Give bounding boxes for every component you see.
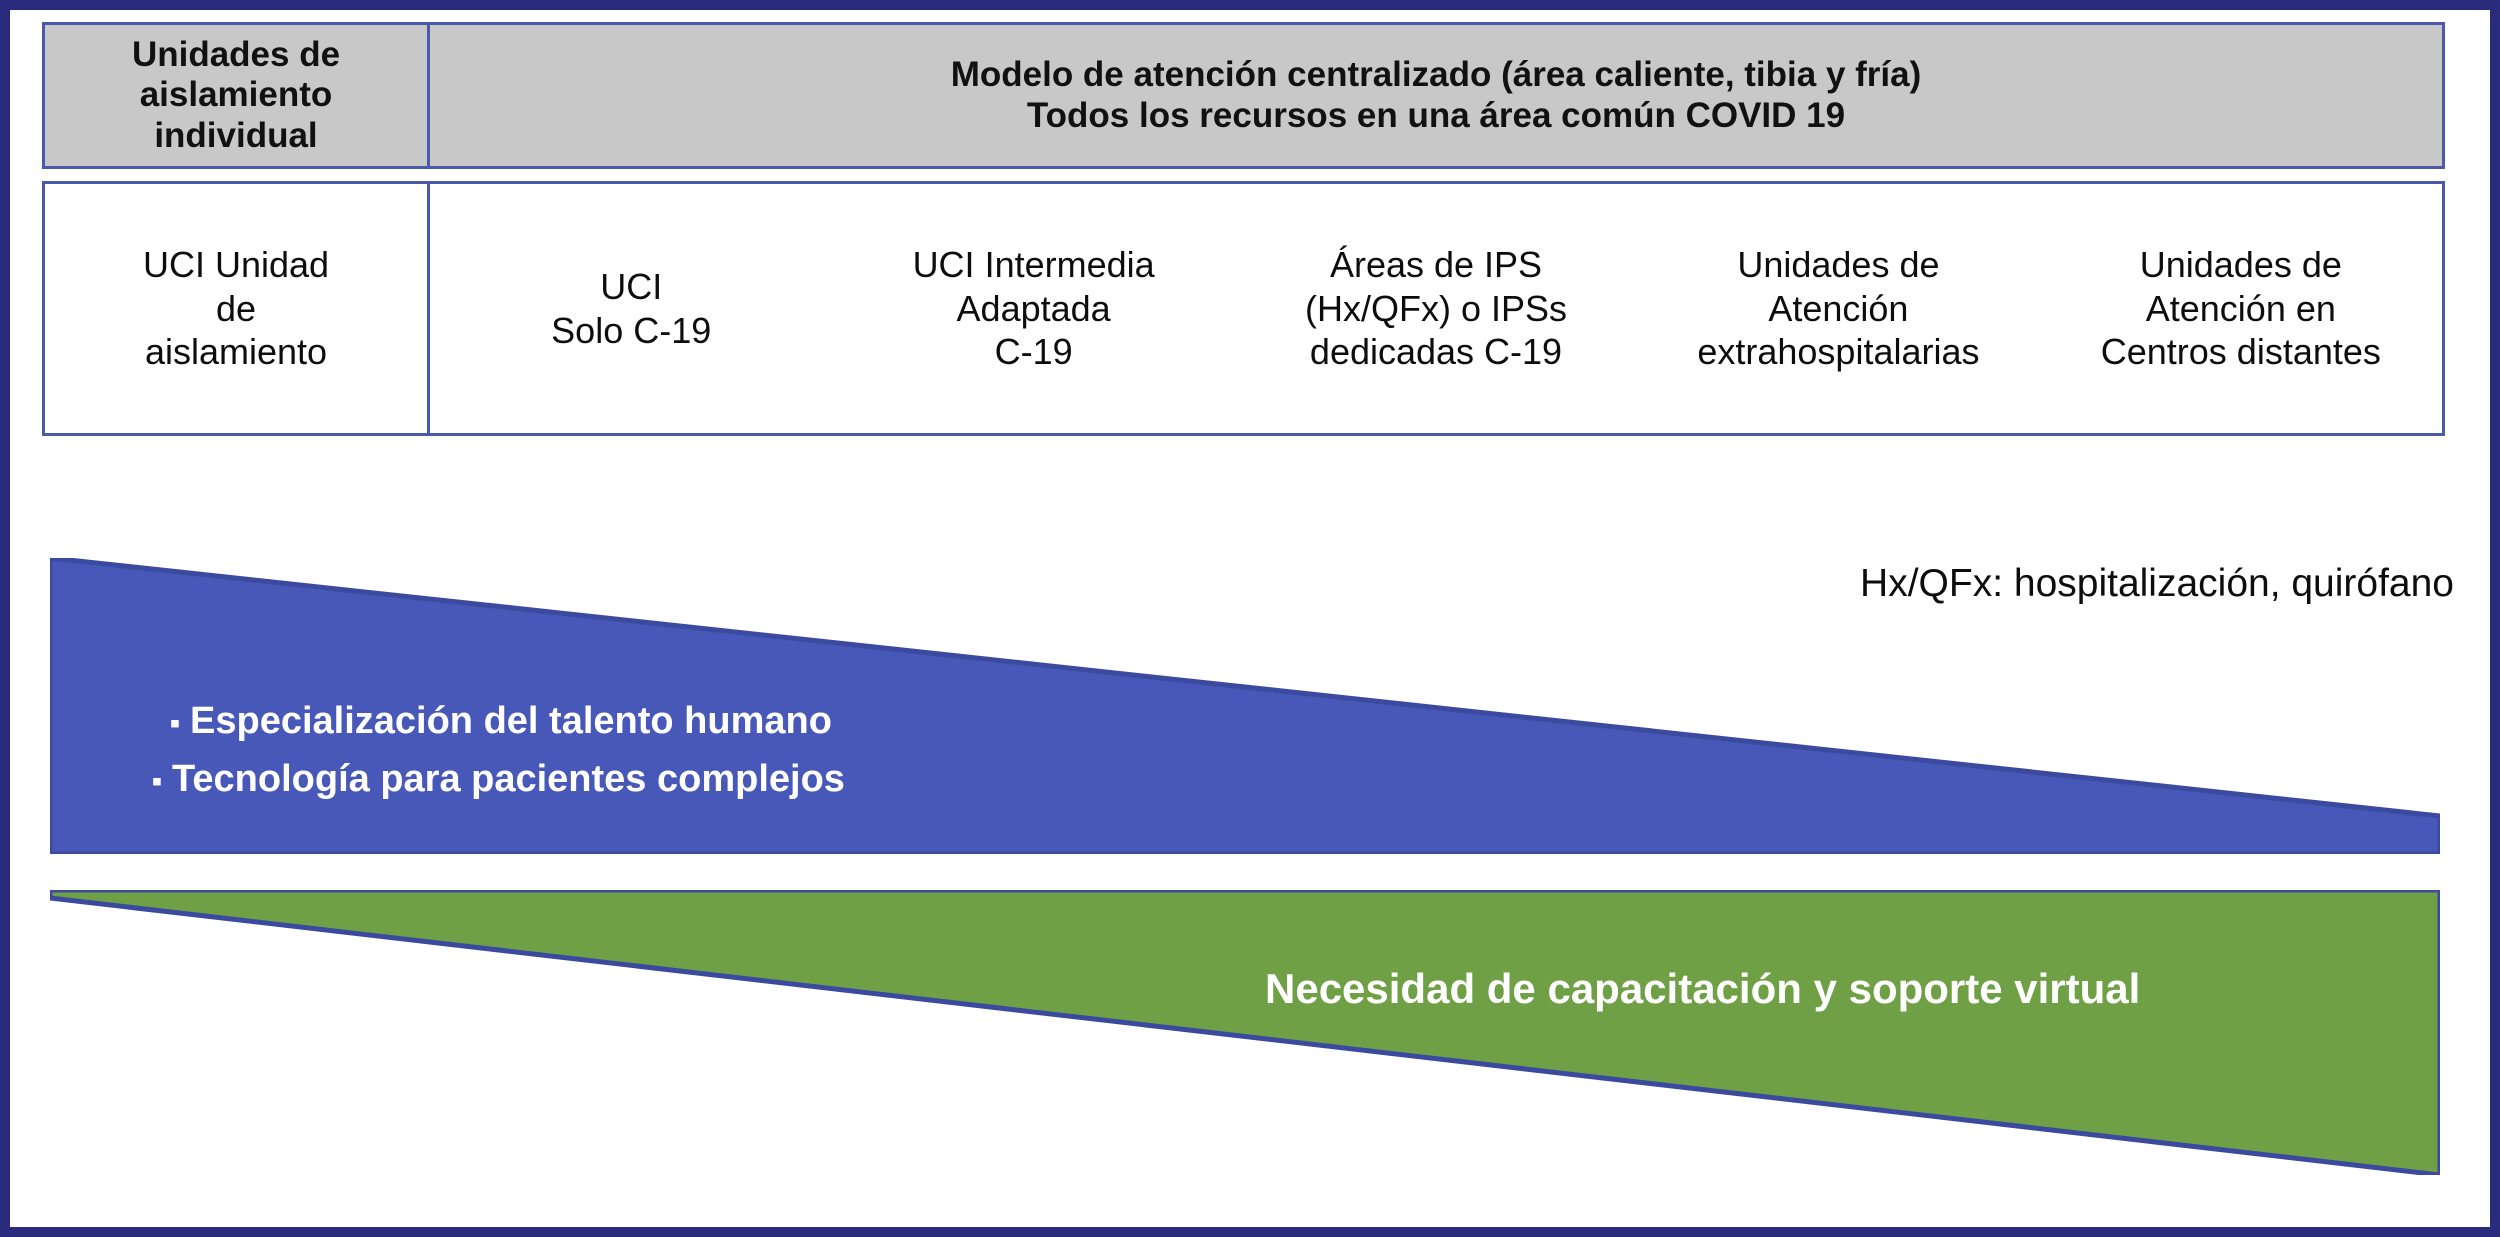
header-right-line-2: Todos los recursos en una área común COV… (951, 96, 1922, 137)
column-uci-intermedia-adaptada: UCI Intermedia Adaptada C-19 (832, 184, 1234, 433)
column-3-line-1: Áreas de IPS (1305, 243, 1567, 287)
blue-wedge-bullet-list: ▪ Especialización del talento humano ▪ T… (160, 693, 845, 809)
blue-bullet-item-1: ▪ Especialización del talento humano (160, 693, 845, 751)
header-cell-centralized-model: Modelo de atención centralizado (área ca… (430, 25, 2442, 166)
care-model-table: Unidades de aislamiento individual Model… (42, 22, 2445, 436)
header-left-line-1: Unidades de (132, 35, 340, 76)
table-header-row: Unidades de aislamiento individual Model… (42, 22, 2445, 169)
green-wedge-label: Necesidad de capacitación y soporte virt… (1265, 965, 2140, 1013)
header-left-line-3: individual (132, 116, 340, 157)
header-left-line-2: aislamiento (132, 75, 340, 116)
column-1-line-1: UCI (551, 265, 711, 309)
column-0-line-3: aislamiento (143, 330, 329, 374)
blue-bullet-item-2: ▪ Tecnología para pacientes complejos (160, 751, 845, 809)
green-increasing-wedge (50, 890, 2440, 1175)
column-5-line-2: Atención en (2101, 287, 2381, 331)
blue-bullet-label-1: Especialización del talento humano (190, 693, 832, 751)
column-5-line-1: Unidades de (2101, 243, 2381, 287)
header-cell-individual-isolation: Unidades de aislamiento individual (45, 25, 430, 166)
column-5-line-3: Centros distantes (2101, 330, 2381, 374)
column-2-line-2: Adaptada (913, 287, 1155, 331)
column-3-line-2: (Hx/QFx) o IPSs (1305, 287, 1567, 331)
bullet-square-icon: ▪ (142, 759, 172, 805)
column-2-line-1: UCI Intermedia (913, 243, 1155, 287)
bullet-square-icon: ▪ (160, 701, 190, 747)
column-1-line-2: Solo C-19 (551, 309, 711, 353)
column-4-line-1: Unidades de (1697, 243, 1979, 287)
table-columns-row: UCI Unidad de aislamiento UCI Solo C-19 … (42, 181, 2445, 436)
column-4-line-3: extrahospitalarias (1697, 330, 1979, 374)
slide-canvas: Unidades de aislamiento individual Model… (0, 0, 2500, 1237)
column-areas-de-ips: Áreas de IPS (Hx/QFx) o IPSs dedicadas C… (1235, 184, 1637, 433)
column-0-line-1: UCI Unidad (143, 243, 329, 287)
column-0-line-2: de (143, 287, 329, 331)
column-uci-unidad-de-aislamiento: UCI Unidad de aislamiento (45, 184, 430, 433)
column-4-line-2: Atención (1697, 287, 1979, 331)
column-uci-solo-c19: UCI Solo C-19 (430, 184, 832, 433)
column-2-line-3: C-19 (913, 330, 1155, 374)
blue-bullet-label-2: Tecnología para pacientes complejos (172, 751, 845, 809)
column-unidades-centros-distantes: Unidades de Atención en Centros distante… (2040, 184, 2442, 433)
green-wedge-shape (50, 890, 2440, 1175)
header-right-line-1: Modelo de atención centralizado (área ca… (951, 55, 1922, 96)
column-3-line-3: dedicadas C-19 (1305, 330, 1567, 374)
column-unidades-extrahospitalarias: Unidades de Atención extrahospitalarias (1637, 184, 2039, 433)
